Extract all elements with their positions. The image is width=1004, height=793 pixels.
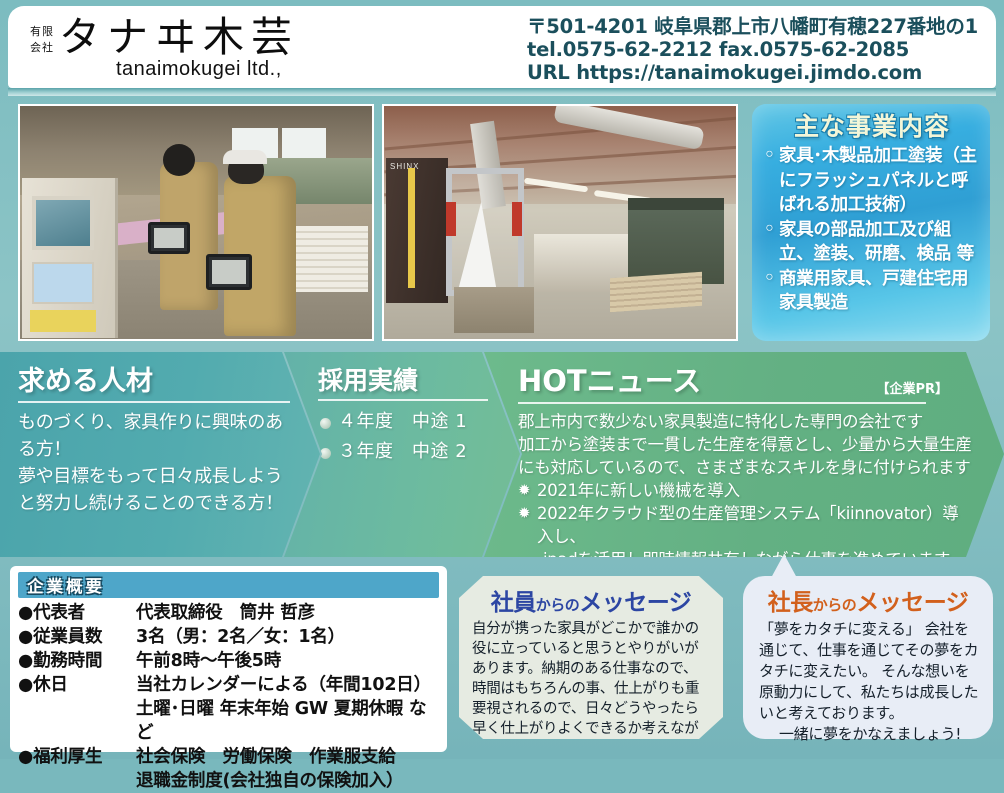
hot-news-item: 2022年クラウド型の生産管理システム「kiinnovator）導入し、 ipa… <box>518 502 974 571</box>
employee-message-bubble: 社員からのメッセージ 自分が携った家具がどこかで誰かの役に立っていると思うとやり… <box>459 576 723 739</box>
employee-title-mid: からの <box>536 596 580 614</box>
overview-value-main: 社会保険 労働保険 作業服支給 <box>136 747 396 767</box>
wanted-people-title: 求める人材 <box>18 366 290 398</box>
photo1-cnc-keypad <box>32 262 94 304</box>
employee-message-body: 自分が携った家具がどこかで誰かの役に立っていると思うとやりがいがあります。納期の… <box>459 617 723 759</box>
president-message-bubble: 社長からのメッセージ 「夢をカタチに変える」 会社を通じて、仕事を通じてその夢を… <box>743 576 993 739</box>
photo-factory-interior: SHINX <box>382 104 738 341</box>
page-header: 有限 会社 タナヰ木芸 tanaimokugei ltd., 〒501-4201… <box>8 6 996 88</box>
president-line-4: 一緒に夢をかなえましょう! <box>759 724 981 745</box>
photo1-worker-a-head <box>163 144 195 176</box>
company-logo: 有限 会社 タナヰ木芸 <box>30 14 299 60</box>
employee-title-end: メッセージ <box>579 590 691 616</box>
overview-label: ●従業員数 <box>18 625 136 649</box>
overview-value: 代表取締役 筒井 哲彦 <box>136 601 439 625</box>
overview-value-main: 当社カレンダーによる（年間102日） <box>136 675 431 695</box>
photo1-tablet-1 <box>148 222 190 254</box>
company-profile-page: 有限 会社 タナヰ木芸 tanaimokugei ltd., 〒501-4201… <box>0 0 1004 759</box>
photo1-tablet-2 <box>206 254 252 290</box>
hot-news-item-main: 2022年クラウド型の生産管理システム「kiinnovator）導入し、 <box>537 504 959 546</box>
contact-info: 〒501-4201 岐阜県郡上市八幡町有穂227番地の1 tel.0575-62… <box>527 15 978 84</box>
hot-news-item-cont: ipadを活用し即時情報共有しながら仕事を進めています <box>537 548 974 571</box>
company-name-roman: tanaimokugei ltd., <box>116 58 282 81</box>
photo2-shinx-machine <box>386 158 448 303</box>
overview-value: 社会保険 労働保険 作業服支給 退職金制度(会社独自の保険加入） <box>136 745 439 793</box>
hot-news-rule <box>518 402 926 404</box>
overview-value: 3名（男：2名／女：1名） <box>136 625 439 649</box>
hiring-record-rule <box>318 399 488 401</box>
hot-news-list: 2021年に新しい機械を導入 2022年クラウド型の生産管理システム「kiinn… <box>518 479 974 571</box>
photo2-red-marker-2 <box>512 202 522 236</box>
corporate-pr-label: 【企業PR】 <box>876 378 948 397</box>
company-overview-title: 企業概要 <box>27 573 105 597</box>
employee-title-main: 社員 <box>491 590 536 616</box>
president-bubble-tail <box>771 554 797 578</box>
hiring-record-list: ４年度 中途 1 ３年度 中途 2 <box>318 407 502 467</box>
company-overview-box: 企業概要 ●代表者 代表取締役 筒井 哲彦 ●従業員数 3名（男：2名／女：1名… <box>10 566 447 752</box>
business-item: 家具･木製品加工塗装（主にフラッシュパネルと呼ばれる加工技術） <box>764 144 980 218</box>
wanted-people-rule <box>18 401 290 403</box>
employee-message-title: 社員からのメッセージ <box>459 576 723 617</box>
company-address: 〒501-4201 岐阜県郡上市八幡町有穂227番地の1 <box>527 15 978 38</box>
company-name-jp: タナヰ木芸 <box>59 14 299 60</box>
hiring-record-item: ３年度 中途 2 <box>318 437 502 467</box>
overview-row: ●勤務時間 午前8時～午後5時 <box>18 649 439 673</box>
business-content-box: 主な事業内容 家具･木製品加工塗装（主にフラッシュパネルと呼ばれる加工技術） 家… <box>752 104 990 341</box>
photo1-cnc-panel <box>22 178 118 338</box>
prefix-line-2: 会社 <box>30 40 54 56</box>
employee-bubble-tail <box>559 554 585 578</box>
business-item: 商業用家具、戸建住宅用家具製造 <box>764 267 980 316</box>
photo2-yellow-rail <box>408 168 415 288</box>
photo-workers-tablets <box>18 104 374 341</box>
hiring-record-title: 採用実績 <box>318 366 502 396</box>
photo2-plywood-stack <box>610 272 702 312</box>
company-overview-header: 企業概要 <box>18 572 439 598</box>
overview-row: ●従業員数 3名（男：2名／女：1名） <box>18 625 439 649</box>
overview-value-sub: 退職金制度(会社独自の保険加入） <box>136 769 439 793</box>
president-line-1: 「夢をカタチに変える」 <box>759 620 920 638</box>
overview-value: 午前8時～午後5時 <box>136 649 439 673</box>
hot-news-title: HOTニュース <box>518 364 701 399</box>
hot-news-item-main: 2021年に新しい機械を導入 <box>537 481 740 500</box>
business-item: 家具の部品加工及び組立、塗装、研磨、検品 等 <box>764 218 980 267</box>
business-content-list: 家具･木製品加工塗装（主にフラッシュパネルと呼ばれる加工技術） 家具の部品加工及… <box>764 144 980 316</box>
overview-row: ●代表者 代表取締役 筒井 哲彦 <box>18 601 439 625</box>
overview-value: 当社カレンダーによる（年間102日） 土曜･日曜 年末年始 GW 夏期休暇 など <box>136 673 439 745</box>
company-url[interactable]: URL https://tanaimokugei.jimdo.com <box>527 61 978 84</box>
overview-label: ●休日 <box>18 673 136 745</box>
photo2-work-table <box>454 287 534 333</box>
prefix-line-1: 有限 <box>30 24 54 40</box>
business-content-title: 主な事業内容 <box>764 112 980 142</box>
overview-row: ●休日 当社カレンダーによる（年間102日） 土曜･日曜 年末年始 GW 夏期休… <box>18 673 439 745</box>
photo-gallery: SHINX <box>18 104 738 341</box>
overview-label: ●代表者 <box>18 601 136 625</box>
president-message-title: 社長からのメッセージ <box>743 576 993 617</box>
overview-value-sub: 土曜･日曜 年末年始 GW 夏期休暇 など <box>136 697 439 745</box>
chevron-band: 求める人材 ものづくり、家具作りに興味のある方！ 夢や目標をもって日々成長しよう… <box>0 352 1004 557</box>
header-divider <box>8 88 996 96</box>
photo1-worker-b-cap <box>223 150 267 164</box>
company-type-prefix: 有限 会社 <box>30 14 54 56</box>
photo2-machine-label: SHINX <box>390 162 419 171</box>
overview-label: ●福利厚生 <box>18 745 136 793</box>
photo2-press-machine <box>628 198 724 284</box>
photo1-tablet-1-screen <box>154 228 184 248</box>
president-title-mid: からの <box>813 596 857 614</box>
hot-news-lead: 郡上市内で数少ない家具製造に特化した専門の会社です 加工から塗装まで一貫した生産… <box>518 410 974 479</box>
overview-row: ●福利厚生 社会保険 労働保険 作業服支給 退職金制度(会社独自の保険加入） <box>18 745 439 793</box>
photo1-tablet-2-screen <box>212 260 246 284</box>
wanted-people-section: 求める人材 ものづくり、家具作りに興味のある方！ 夢や目標をもって日々成長しよう… <box>0 352 320 557</box>
president-message-body: 「夢をカタチに変える」 会社を通じて、仕事を通じてその夢をカタチに変えたい。 そ… <box>743 617 993 745</box>
photo2-press-beam <box>628 198 724 210</box>
photo1-cnc-screen <box>32 196 94 250</box>
president-title-main: 社長 <box>768 590 813 616</box>
company-tel-fax: tel.0575-62-2212 fax.0575-62-2085 <box>527 38 978 61</box>
wanted-people-body: ものづくり、家具作りに興味のある方！ 夢や目標をもって日々成長しようと努力し続け… <box>18 409 290 517</box>
photo1-cnc-label <box>30 310 96 332</box>
president-title-end: メッセージ <box>856 590 968 616</box>
photo2-red-marker-1 <box>446 202 456 236</box>
hot-news-section: HOTニュース 【企業PR】 郡上市内で数少ない家具製造に特化した専門の会社です… <box>484 352 1004 557</box>
overview-label: ●勤務時間 <box>18 649 136 673</box>
hot-news-item: 2021年に新しい機械を導入 <box>518 479 974 502</box>
hiring-record-item: ４年度 中途 1 <box>318 407 502 437</box>
